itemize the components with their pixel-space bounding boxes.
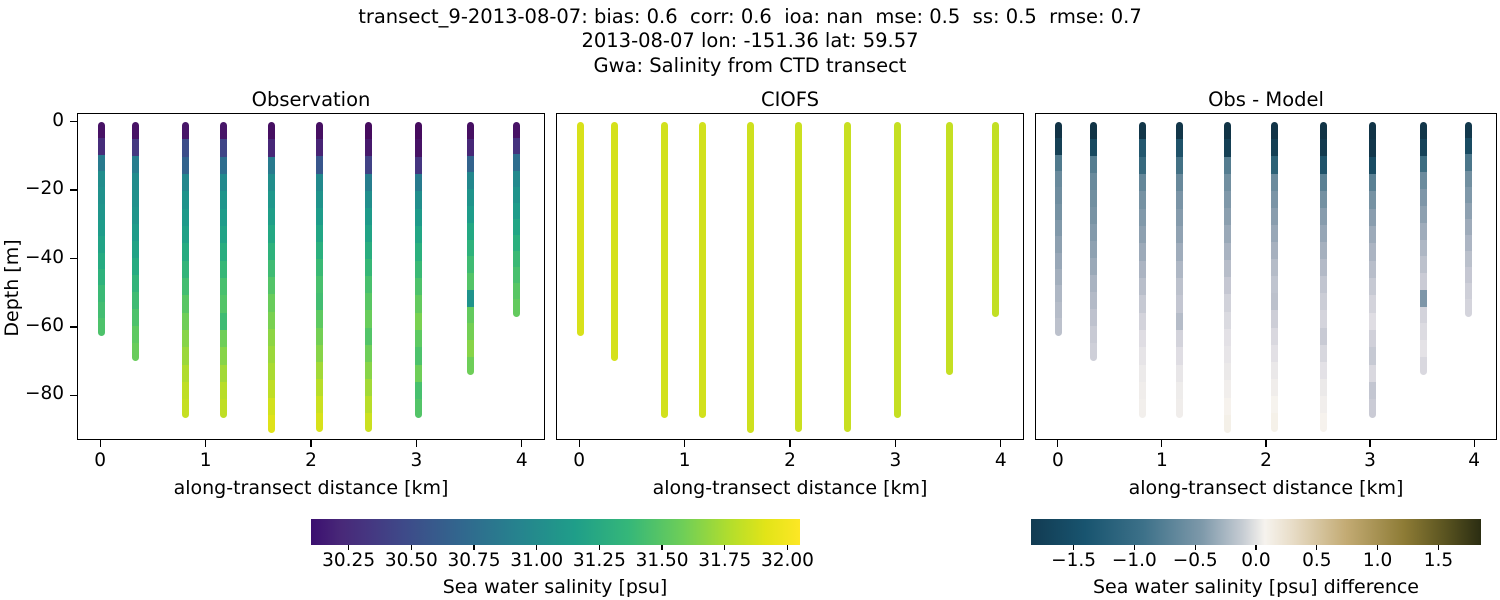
profile-segment xyxy=(1139,295,1146,314)
profile-segment xyxy=(415,209,422,228)
profile-segment xyxy=(894,399,901,418)
profile-segment xyxy=(220,226,227,245)
profile-segment xyxy=(316,191,323,209)
profile-segment xyxy=(661,209,668,228)
profile-segment xyxy=(844,362,851,380)
profile-segment xyxy=(747,225,754,243)
profile-segment xyxy=(611,292,618,310)
profile-segment xyxy=(1420,156,1427,174)
profile-segment xyxy=(268,312,275,330)
profile-segment xyxy=(1224,380,1231,398)
profile-segment xyxy=(1320,139,1327,157)
profile-segment xyxy=(1176,157,1183,176)
profile-segment xyxy=(182,122,189,141)
profile-segment xyxy=(365,242,372,260)
profile-segment xyxy=(699,157,706,176)
figure-canvas: transect_9-2013-08-07: bias: 0.6 corr: 0… xyxy=(0,0,1500,600)
profile-segment xyxy=(132,292,139,310)
profile-segment xyxy=(316,276,323,294)
profile-segment xyxy=(1271,122,1278,140)
profile-segment xyxy=(268,157,275,175)
x-tick-mark xyxy=(1057,440,1058,447)
profile-segment xyxy=(699,330,706,349)
profile-segment xyxy=(1139,399,1146,418)
profile-segment xyxy=(1465,251,1472,268)
profile-segment xyxy=(946,273,953,291)
profile-segment xyxy=(365,208,372,226)
profile-segment xyxy=(1055,187,1062,205)
profile-segment xyxy=(365,276,372,294)
profile-segment xyxy=(1090,343,1097,361)
profile-segment xyxy=(365,156,372,174)
profile-segment xyxy=(182,139,189,158)
plot-area-observation xyxy=(78,114,544,439)
profile-segment xyxy=(661,191,668,210)
profile-segment xyxy=(467,307,474,325)
profile-segment xyxy=(1465,283,1472,300)
profile-segment xyxy=(182,261,189,280)
profile-segment xyxy=(415,174,422,193)
profile-segment xyxy=(1224,294,1231,312)
profile-segment xyxy=(1090,292,1097,310)
profile-segment xyxy=(1420,307,1427,325)
profile-segment xyxy=(1320,362,1327,380)
profile-segment xyxy=(699,243,706,262)
profile-segment xyxy=(894,295,901,314)
profile-segment xyxy=(365,191,372,209)
profile-segment xyxy=(1176,399,1183,418)
x-tick-mark xyxy=(100,440,101,447)
profile-segment xyxy=(992,203,999,220)
profile-segment xyxy=(1055,318,1062,336)
profile-segment xyxy=(699,313,706,332)
profile-segment xyxy=(946,206,953,224)
profile-segment xyxy=(611,309,618,327)
profile-segment xyxy=(661,313,668,332)
profile-segment xyxy=(1176,365,1183,384)
profile-segment xyxy=(98,253,105,271)
panel-title-model: CIOFS xyxy=(556,88,1024,111)
profile-segment xyxy=(661,157,668,176)
profile-segment xyxy=(1369,313,1376,332)
y-tick-mark xyxy=(70,258,77,259)
profile-segment xyxy=(894,278,901,297)
profile-segment xyxy=(132,241,139,259)
profile-segment xyxy=(1055,155,1062,173)
profile-segment xyxy=(220,365,227,384)
x-tick-label: 3 xyxy=(386,450,446,471)
profile-segment xyxy=(316,156,323,174)
profile-segment xyxy=(699,122,706,141)
profile-segment xyxy=(1271,396,1278,414)
profile-segment xyxy=(844,328,851,346)
x-tick-label: 4 xyxy=(492,450,552,471)
x-tick-label: 1 xyxy=(176,450,236,471)
profile-segment xyxy=(220,382,227,401)
profile-segment xyxy=(1320,156,1327,174)
profile-segment xyxy=(992,219,999,236)
profile-segment xyxy=(1420,290,1427,308)
profile-segment xyxy=(415,382,422,401)
profile-segment xyxy=(1271,362,1278,380)
profile-segment xyxy=(946,357,953,375)
x-tick-mark xyxy=(205,440,206,447)
y-tick-mark xyxy=(70,121,77,122)
x-axis-label-difference: along-transect distance [km] xyxy=(1035,477,1497,499)
profile-segment xyxy=(182,243,189,262)
profile-segment xyxy=(992,171,999,188)
profile-segment xyxy=(946,122,953,140)
profile-segment xyxy=(946,223,953,241)
profile-segment xyxy=(98,187,105,205)
profile-segment xyxy=(699,139,706,158)
x-tick-mark xyxy=(1161,440,1162,447)
profile-segment xyxy=(1320,208,1327,226)
plot-area-model xyxy=(557,114,1023,439)
profile-segment xyxy=(661,295,668,314)
profile-segment xyxy=(844,208,851,226)
profile-segment xyxy=(1139,382,1146,401)
profile-segment xyxy=(1090,207,1097,225)
profile-segment xyxy=(268,329,275,347)
x-tick-label: 2 xyxy=(1236,450,1296,471)
profile-segment xyxy=(844,174,851,192)
profile-segment xyxy=(1055,122,1062,140)
profile-segment xyxy=(1420,240,1427,258)
profile-segment xyxy=(316,259,323,277)
profile-segment xyxy=(220,399,227,418)
profile-segment xyxy=(467,223,474,241)
profile-segment xyxy=(1090,173,1097,191)
profile-segment xyxy=(415,347,422,366)
profile-segment xyxy=(1224,415,1231,433)
profile-segment xyxy=(795,379,802,397)
profile-segment xyxy=(844,122,851,140)
profile-segment xyxy=(1176,313,1183,332)
profile-segment xyxy=(577,318,584,336)
profile-segment xyxy=(611,190,618,208)
profile-segment xyxy=(1055,269,1062,287)
profile-segment xyxy=(513,187,520,204)
profile-segment xyxy=(1320,191,1327,209)
profile-segment xyxy=(577,187,584,205)
x-tick-mark xyxy=(1000,440,1001,447)
profile-segment xyxy=(132,224,139,242)
profile-segment xyxy=(795,345,802,363)
profile-segment xyxy=(661,365,668,384)
profile-segment xyxy=(992,138,999,155)
profile-segment xyxy=(415,157,422,176)
profile-segment xyxy=(1176,243,1183,262)
profile-segment xyxy=(1320,276,1327,294)
x-tick-label: 0 xyxy=(1028,450,1088,471)
profile-segment xyxy=(611,122,618,140)
profile-segment xyxy=(577,253,584,271)
x-axis-label-model: along-transect distance [km] xyxy=(556,477,1024,499)
profile-segment xyxy=(132,343,139,361)
profile-segment xyxy=(1271,225,1278,243)
profile-segment xyxy=(795,208,802,226)
profile-segment xyxy=(268,415,275,433)
profile-segment xyxy=(415,365,422,384)
profile-segment xyxy=(415,278,422,297)
profile-segment xyxy=(1420,357,1427,375)
profile-segment xyxy=(747,260,754,278)
profile-segment xyxy=(268,122,275,140)
profile-segment xyxy=(220,261,227,280)
y-tick-label: −80 xyxy=(0,383,64,404)
profile-segment xyxy=(795,191,802,209)
profile-segment xyxy=(795,156,802,174)
profile-segment xyxy=(699,191,706,210)
profile-segment xyxy=(1369,226,1376,245)
profile-segment xyxy=(1465,219,1472,236)
profile-segment xyxy=(1271,345,1278,363)
profile-segment xyxy=(268,277,275,295)
profile-segment xyxy=(513,154,520,171)
y-tick-label: −20 xyxy=(0,178,64,199)
profile-segment xyxy=(182,382,189,401)
profile-segment xyxy=(182,226,189,245)
profile-segment xyxy=(1271,310,1278,328)
profile-segment xyxy=(513,138,520,155)
profile-segment xyxy=(1320,328,1327,346)
profile-segment xyxy=(795,242,802,260)
profile-segment xyxy=(1420,256,1427,274)
profile-segment xyxy=(1320,122,1327,140)
profile-segment xyxy=(182,313,189,332)
profile-segment xyxy=(365,328,372,346)
profile-segment xyxy=(747,398,754,416)
profile-segment xyxy=(1465,235,1472,252)
profile-segment xyxy=(1176,174,1183,193)
profile-segment xyxy=(1176,139,1183,158)
figure-title-line-3: Gwa: Salinity from CTD transect xyxy=(0,56,1500,76)
profile-segment xyxy=(1369,174,1376,193)
profile-segment xyxy=(577,269,584,287)
profile-segment xyxy=(1176,382,1183,401)
profile-segment xyxy=(699,347,706,366)
profile-segment xyxy=(1369,330,1376,349)
profile-segment xyxy=(132,309,139,327)
profile-segment xyxy=(747,243,754,261)
profile-segment xyxy=(1271,259,1278,277)
profile-segment xyxy=(661,226,668,245)
profile-segment xyxy=(415,243,422,262)
profile-segment xyxy=(467,290,474,308)
x-tick-label: 1 xyxy=(1132,450,1192,471)
profile-segment xyxy=(661,139,668,158)
x-tick-label: 3 xyxy=(865,450,925,471)
profile-segment xyxy=(1224,329,1231,347)
profile-segment xyxy=(946,139,953,157)
profile-segment xyxy=(182,174,189,193)
y-tick-mark xyxy=(70,326,77,327)
profile-segment xyxy=(1320,413,1327,431)
profile-segment xyxy=(795,122,802,140)
profile-segment xyxy=(268,260,275,278)
profile-segment xyxy=(1271,139,1278,157)
profile-segment xyxy=(1320,225,1327,243)
profile-segment xyxy=(844,276,851,294)
profile-segment xyxy=(992,122,999,139)
profile-segment xyxy=(747,380,754,398)
profile-segment xyxy=(894,139,901,158)
profile-segment xyxy=(316,345,323,363)
profile-segment xyxy=(365,396,372,414)
x-tick-label: 3 xyxy=(1340,450,1400,471)
profile-segment xyxy=(1224,191,1231,209)
profile-segment xyxy=(415,295,422,314)
profile-segment xyxy=(611,326,618,344)
profile-segment xyxy=(467,122,474,140)
profile-segment xyxy=(894,347,901,366)
profile-segment xyxy=(220,139,227,158)
profile-segment xyxy=(1090,156,1097,174)
profile-segment xyxy=(1271,379,1278,397)
profile-segment xyxy=(747,415,754,433)
x-tick-label: 2 xyxy=(281,450,341,471)
profile-segment xyxy=(795,396,802,414)
profile-segment xyxy=(1320,242,1327,260)
colorbar-label-difference: Sea water salinity [psu] difference xyxy=(1000,576,1500,598)
profile-segment xyxy=(182,278,189,297)
profile-segment xyxy=(1055,220,1062,238)
profile-segment xyxy=(268,191,275,209)
profile-segment xyxy=(795,310,802,328)
profile-segment xyxy=(1369,382,1376,401)
profile-segment xyxy=(365,139,372,157)
profile-segment xyxy=(611,224,618,242)
profile-segment xyxy=(1090,241,1097,259)
profile-segment xyxy=(1369,139,1376,158)
profile-segment xyxy=(1271,174,1278,192)
profile-segment xyxy=(611,343,618,361)
profile-segment xyxy=(98,302,105,320)
profile-segment xyxy=(661,243,668,262)
profile-segment xyxy=(415,226,422,245)
profile-segment xyxy=(132,156,139,174)
profile-segment xyxy=(316,396,323,414)
profile-segment xyxy=(577,285,584,303)
profile-segment xyxy=(1176,330,1183,349)
profile-segment xyxy=(1369,122,1376,141)
profile-segment xyxy=(182,157,189,176)
profile-segment xyxy=(795,328,802,346)
profile-segment xyxy=(220,295,227,314)
panel-difference xyxy=(1035,113,1497,440)
profile-segment xyxy=(699,174,706,193)
profile-segment xyxy=(1176,278,1183,297)
profile-segment xyxy=(1420,223,1427,241)
profile-segment xyxy=(1055,253,1062,271)
profile-segment xyxy=(1176,122,1183,141)
colorbar-salinity xyxy=(311,519,800,545)
profile-segment xyxy=(844,345,851,363)
profile-segment xyxy=(1369,278,1376,297)
x-tick-mark xyxy=(789,440,790,447)
profile-segment xyxy=(795,174,802,192)
profile-segment xyxy=(699,226,706,245)
profile-segment xyxy=(1271,276,1278,294)
profile-segment xyxy=(182,295,189,314)
profile-segment xyxy=(316,413,323,431)
profile-segment xyxy=(946,256,953,274)
profile-segment xyxy=(1224,243,1231,261)
figure-title-line-2: 2013-08-07 lon: -151.36 lat: 59.57 xyxy=(0,31,1500,51)
profile-segment xyxy=(1369,347,1376,366)
profile-segment xyxy=(1369,365,1376,384)
profile-segment xyxy=(1176,209,1183,228)
profile-segment xyxy=(182,209,189,228)
profile-segment xyxy=(661,174,668,193)
profile-segment xyxy=(1465,154,1472,171)
profile-segment xyxy=(1224,157,1231,175)
profile-segment xyxy=(1090,326,1097,344)
profile-segment xyxy=(1090,139,1097,157)
profile-segment xyxy=(894,209,901,228)
profile-segment xyxy=(577,236,584,254)
x-tick-mark xyxy=(1265,440,1266,447)
profile-segment xyxy=(132,207,139,225)
profile-segment xyxy=(894,261,901,280)
profile-segment xyxy=(467,323,474,341)
profile-segment xyxy=(1224,174,1231,192)
profile-segment xyxy=(220,278,227,297)
x-tick-label: 0 xyxy=(549,450,609,471)
profile-segment xyxy=(1420,139,1427,157)
profile-segment xyxy=(747,208,754,226)
profile-segment xyxy=(1090,224,1097,242)
profile-segment xyxy=(1090,122,1097,140)
profile-segment xyxy=(699,295,706,314)
profile-segment xyxy=(844,139,851,157)
profile-segment xyxy=(1139,191,1146,210)
profile-segment xyxy=(268,243,275,261)
profile-segment xyxy=(365,122,372,140)
profile-segment xyxy=(1224,398,1231,416)
profile-segment xyxy=(1139,278,1146,297)
profile-segment xyxy=(1420,122,1427,140)
colorbar-difference xyxy=(1031,519,1481,545)
profile-segment xyxy=(1090,309,1097,327)
profile-segment xyxy=(98,318,105,336)
profile-segment xyxy=(268,208,275,226)
profile-segment xyxy=(467,156,474,174)
panel-observation xyxy=(77,113,545,440)
profile-segment xyxy=(946,172,953,190)
profile-segment xyxy=(1320,379,1327,397)
profile-segment xyxy=(1176,226,1183,245)
profile-segment xyxy=(98,204,105,222)
profile-segment xyxy=(946,240,953,258)
profile-segment xyxy=(1420,172,1427,190)
profile-segment xyxy=(747,157,754,175)
profile-segment xyxy=(98,220,105,238)
profile-segment xyxy=(795,413,802,431)
profile-segment xyxy=(844,259,851,277)
profile-segment xyxy=(894,382,901,401)
profile-segment xyxy=(513,251,520,268)
panel-title-observation: Observation xyxy=(77,88,545,111)
profile-segment xyxy=(316,139,323,157)
profile-segment xyxy=(1224,346,1231,364)
profile-segment xyxy=(894,157,901,176)
profile-segment xyxy=(1224,139,1231,157)
profile-segment xyxy=(992,267,999,284)
x-tick-label: 4 xyxy=(971,450,1031,471)
profile-segment xyxy=(747,122,754,140)
